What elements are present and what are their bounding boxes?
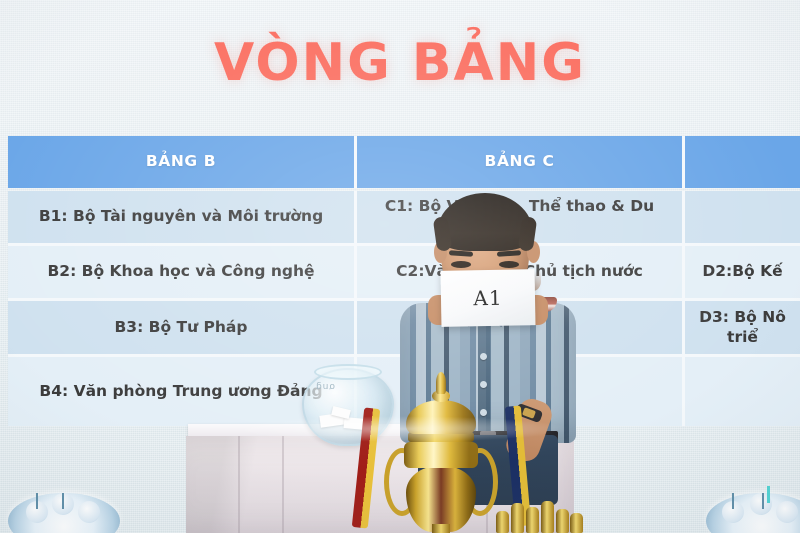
draw-card: A1 <box>441 269 536 327</box>
flower-arrangement-left <box>8 491 120 533</box>
flower-arrangement-right <box>706 491 800 533</box>
photo-scene: VÒNG BẢNG BẢNG B BẢNG C B1: Bộ Tài nguyê… <box>0 0 800 533</box>
cell-b1: B1: Bộ Tài nguyên và Môi trường <box>8 191 354 243</box>
teal-light-marker <box>767 486 770 503</box>
column-header-bang-d <box>682 136 800 188</box>
page-title: VÒNG BẢNG <box>0 33 800 93</box>
column-header-bang-b: BẢNG B <box>8 136 354 188</box>
bowl-rim <box>314 364 382 380</box>
small-trophies-group <box>496 498 584 533</box>
cell-b2: B2: Bộ Khoa học và Công nghệ <box>8 246 354 298</box>
cell-b3: B3: Bộ Tư Pháp <box>8 301 354 354</box>
championship-trophy <box>382 372 500 533</box>
cell-d4 <box>682 357 800 426</box>
bowl-reflected-text: ơng <box>315 381 335 391</box>
cell-d1 <box>682 191 800 243</box>
hair <box>437 193 533 251</box>
column-header-bang-c: BẢNG C <box>354 136 682 188</box>
cell-d2: D2:Bộ Kế <box>682 246 800 298</box>
table-header-row: BẢNG B BẢNG C <box>8 136 800 188</box>
stage-highlight <box>230 416 570 442</box>
cell-d3: D3: Bộ Nô triể <box>682 301 800 354</box>
